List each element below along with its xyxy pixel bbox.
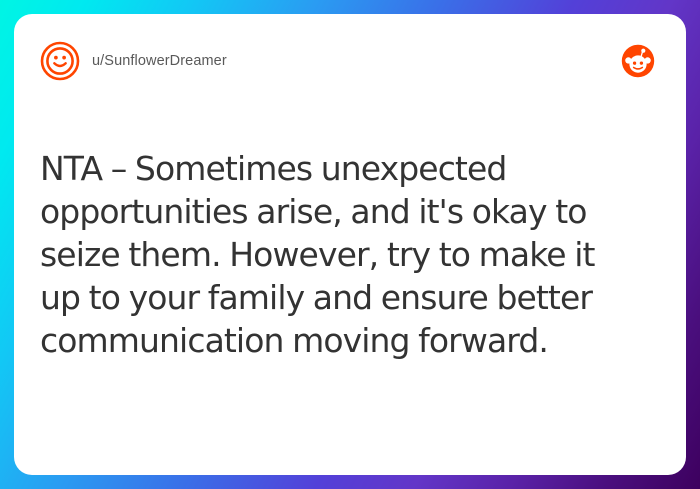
smiley-face-avatar-icon[interactable] bbox=[40, 41, 80, 81]
reddit-snoo-logo-icon[interactable] bbox=[620, 43, 656, 79]
author-block[interactable]: u/SunflowerDreamer bbox=[40, 41, 227, 81]
post-text: NTA – Sometimes unexpected opportunities… bbox=[40, 148, 640, 362]
username-label: u/SunflowerDreamer bbox=[92, 53, 227, 69]
reddit-post-card: u/SunflowerDreamer NTA – Sometimes unexp… bbox=[14, 14, 686, 475]
card-body: NTA – Sometimes unexpected opportunities… bbox=[40, 84, 660, 449]
gradient-background: u/SunflowerDreamer NTA – Sometimes unexp… bbox=[0, 0, 700, 489]
card-header: u/SunflowerDreamer bbox=[40, 38, 660, 84]
